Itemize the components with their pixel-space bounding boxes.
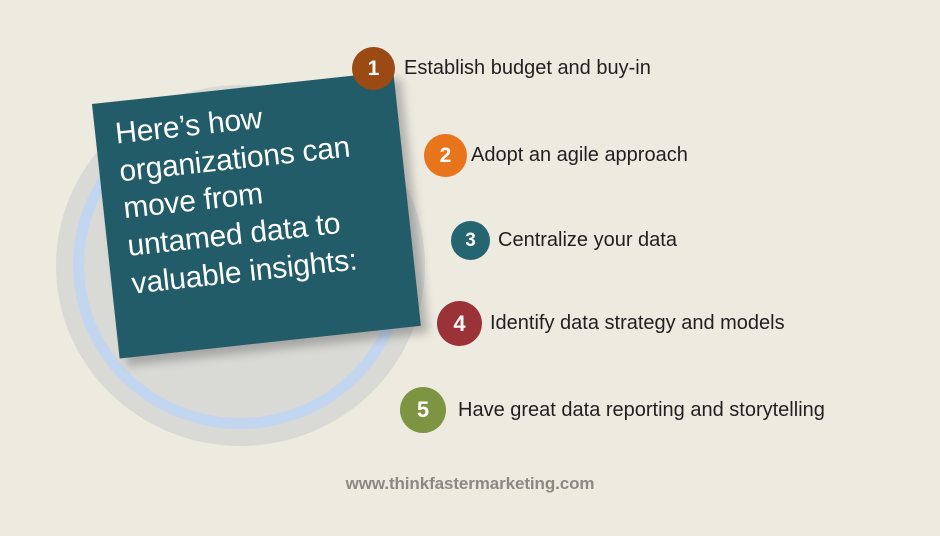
step-number-badge-3: 3 <box>451 221 490 260</box>
step-item-3: 3 Centralize your data <box>451 221 677 260</box>
step-item-1: 1 Establish budget and buy-in <box>352 47 651 90</box>
headline-card: Here’s how organizations can move from u… <box>92 71 421 358</box>
step-number-badge-2: 2 <box>424 134 467 177</box>
step-label-4: Identify data strategy and models <box>490 312 785 335</box>
step-number-badge-5: 5 <box>400 387 446 433</box>
step-number-badge-4: 4 <box>437 301 482 346</box>
step-item-2: 2 Adopt an agile approach <box>424 134 688 177</box>
headline-text: Here’s how organizations can move from u… <box>113 86 404 302</box>
step-label-5: Have great data reporting and storytelli… <box>458 399 825 422</box>
infographic-canvas: Here’s how organizations can move from u… <box>0 0 940 536</box>
step-item-5: 5 Have great data reporting and storytel… <box>400 387 825 433</box>
step-number-badge-1: 1 <box>352 47 395 90</box>
step-item-4: 4 Identify data strategy and models <box>437 301 785 346</box>
step-label-3: Centralize your data <box>498 229 677 252</box>
step-label-1: Establish budget and buy-in <box>404 57 651 80</box>
step-label-2: Adopt an agile approach <box>471 144 688 167</box>
footer-website-url: www.thinkfastermarketing.com <box>0 474 940 494</box>
